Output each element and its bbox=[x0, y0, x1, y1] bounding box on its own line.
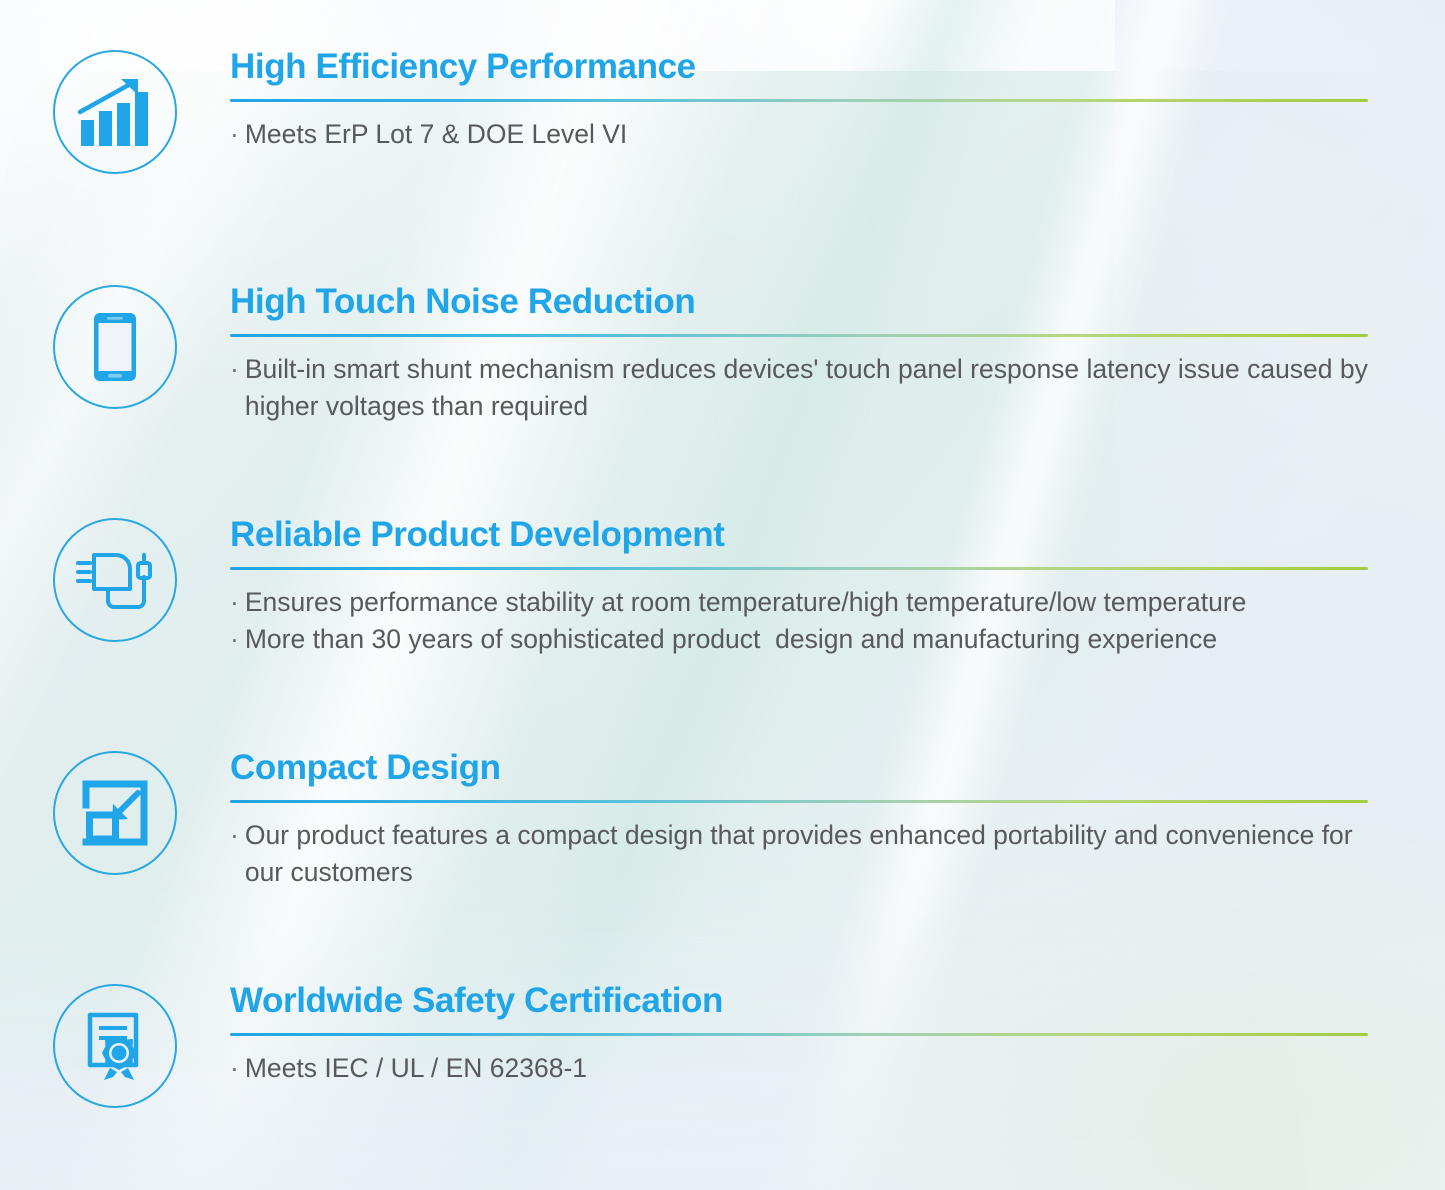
feature-title: Compact Design bbox=[230, 749, 1368, 788]
bullet-item: · Ensures performance stability at room … bbox=[230, 584, 1368, 622]
feature-item-reliable-product-development: Reliable Product Development · Ensures p… bbox=[0, 516, 1445, 659]
feature-bullets: · Meets IEC / UL / EN 62368-1 bbox=[230, 1050, 1368, 1088]
bullet-marker: · bbox=[230, 1050, 239, 1088]
bar-chart-growth-icon bbox=[53, 50, 177, 174]
bullet-item: · Built-in smart shunt mechanism reduces… bbox=[230, 351, 1368, 426]
feature-icon-slot bbox=[0, 982, 230, 1108]
feature-item-compact-design: Compact Design · Our product features a … bbox=[0, 749, 1445, 892]
smartphone-icon bbox=[53, 285, 177, 409]
feature-body: Compact Design · Our product features a … bbox=[230, 749, 1445, 892]
feature-icon-slot bbox=[0, 749, 230, 875]
bullet-marker: · bbox=[230, 351, 239, 389]
feature-divider bbox=[230, 99, 1368, 102]
feature-item-high-touch-noise-reduction: High Touch Noise Reduction · Built-in sm… bbox=[0, 283, 1445, 426]
certificate-seal-icon bbox=[53, 984, 177, 1108]
feature-body: High Touch Noise Reduction · Built-in sm… bbox=[230, 283, 1445, 426]
bullet-text: Ensures performance stability at room te… bbox=[245, 584, 1368, 622]
bullet-text: Our product features a compact design th… bbox=[245, 817, 1368, 892]
feature-title: Reliable Product Development bbox=[230, 516, 1368, 555]
bullet-marker: · bbox=[230, 621, 239, 659]
bullet-item: · More than 30 years of sophisticated pr… bbox=[230, 621, 1368, 659]
feature-bullets: · Our product features a compact design … bbox=[230, 817, 1368, 892]
bullet-item: · Meets IEC / UL / EN 62368-1 bbox=[230, 1050, 1368, 1088]
feature-divider bbox=[230, 567, 1368, 570]
bullet-marker: · bbox=[230, 817, 239, 855]
feature-icon-slot bbox=[0, 48, 230, 174]
bullet-item: · Meets ErP Lot 7 & DOE Level VI bbox=[230, 116, 1368, 154]
feature-divider bbox=[230, 334, 1368, 337]
feature-bullets: · Ensures performance stability at room … bbox=[230, 584, 1368, 659]
bullet-marker: · bbox=[230, 584, 239, 622]
bullet-marker: · bbox=[230, 116, 239, 154]
feature-divider bbox=[230, 800, 1368, 803]
feature-body: Reliable Product Development · Ensures p… bbox=[230, 516, 1445, 659]
compact-resize-icon bbox=[53, 751, 177, 875]
feature-item-worldwide-safety-certification: Worldwide Safety Certification · Meets I… bbox=[0, 982, 1445, 1108]
feature-divider bbox=[230, 1033, 1368, 1036]
bullet-text: Meets IEC / UL / EN 62368-1 bbox=[245, 1050, 1368, 1088]
feature-icon-slot bbox=[0, 283, 230, 409]
bullet-item: · Our product features a compact design … bbox=[230, 817, 1368, 892]
feature-item-high-efficiency-performance: High Efficiency Performance · Meets ErP … bbox=[0, 48, 1445, 174]
feature-body: High Efficiency Performance · Meets ErP … bbox=[230, 48, 1445, 153]
feature-icon-slot bbox=[0, 516, 230, 642]
bullet-text: More than 30 years of sophisticated prod… bbox=[245, 621, 1368, 659]
feature-bullets: · Meets ErP Lot 7 & DOE Level VI bbox=[230, 116, 1368, 154]
feature-body: Worldwide Safety Certification · Meets I… bbox=[230, 982, 1445, 1087]
feature-title: High Efficiency Performance bbox=[230, 48, 1368, 87]
bullet-text: Meets ErP Lot 7 & DOE Level VI bbox=[245, 116, 1368, 154]
feature-list: High Efficiency Performance · Meets ErP … bbox=[0, 0, 1445, 1190]
power-adapter-icon bbox=[53, 518, 177, 642]
feature-title: Worldwide Safety Certification bbox=[230, 982, 1368, 1021]
bullet-text: Built-in smart shunt mechanism reduces d… bbox=[245, 351, 1368, 426]
feature-bullets: · Built-in smart shunt mechanism reduces… bbox=[230, 351, 1368, 426]
feature-title: High Touch Noise Reduction bbox=[230, 283, 1368, 322]
